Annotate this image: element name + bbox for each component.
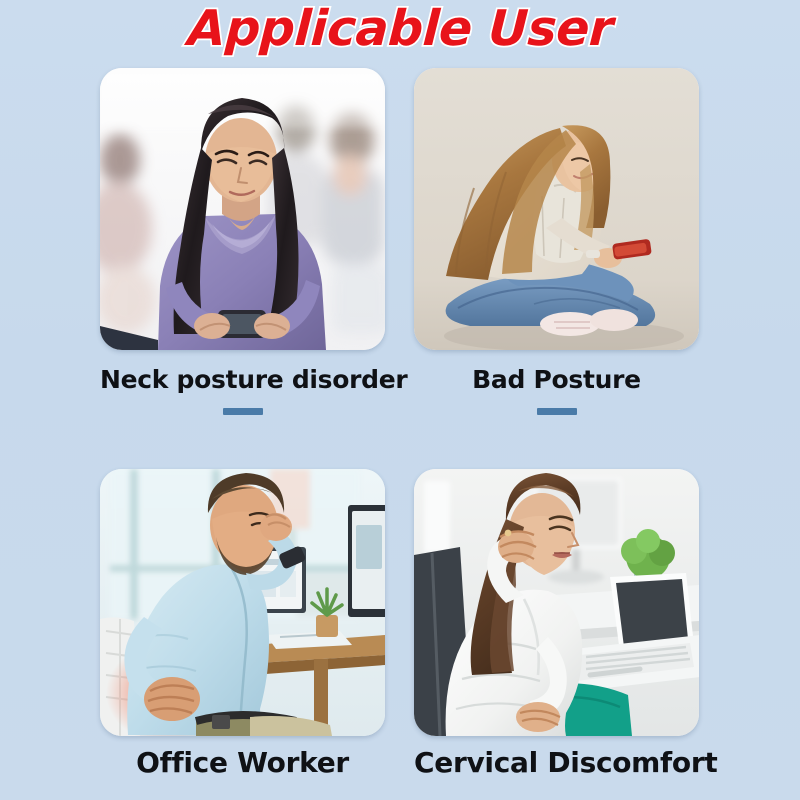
photo-woman-holding-neck-at-laptop <box>414 469 699 736</box>
caption-cervical-discomfort: Cervical Discomfort <box>414 748 699 779</box>
photo-card-bad-posture[interactable] <box>414 68 699 350</box>
photo-woman-looking-down-at-phone <box>100 68 385 350</box>
title-bar: Applicable User <box>0 4 800 54</box>
caption-underline <box>223 408 263 415</box>
infographic-page: Applicable User om <box>0 0 800 800</box>
photo-card-office-worker[interactable] <box>100 469 385 736</box>
caption-underline <box>537 408 577 415</box>
caption-label: Bad Posture <box>414 366 699 394</box>
caption-label: Neck posture disorder <box>100 366 385 394</box>
caption-bad-posture: Bad Posture <box>414 366 699 415</box>
page-title: Applicable User <box>186 4 613 54</box>
caption-neck-posture-disorder: Neck posture disorder <box>100 366 385 415</box>
photo-man-with-lower-back-pain-at-desk <box>100 469 385 736</box>
caption-office-worker: Office Worker <box>100 748 385 779</box>
photo-girl-sitting-hunched-with-phone <box>414 68 699 350</box>
caption-label: Office Worker <box>100 748 385 779</box>
photo-card-cervical-discomfort[interactable] <box>414 469 699 736</box>
photo-card-neck-posture-disorder[interactable] <box>100 68 385 350</box>
caption-label: Cervical Discomfort <box>414 748 699 779</box>
